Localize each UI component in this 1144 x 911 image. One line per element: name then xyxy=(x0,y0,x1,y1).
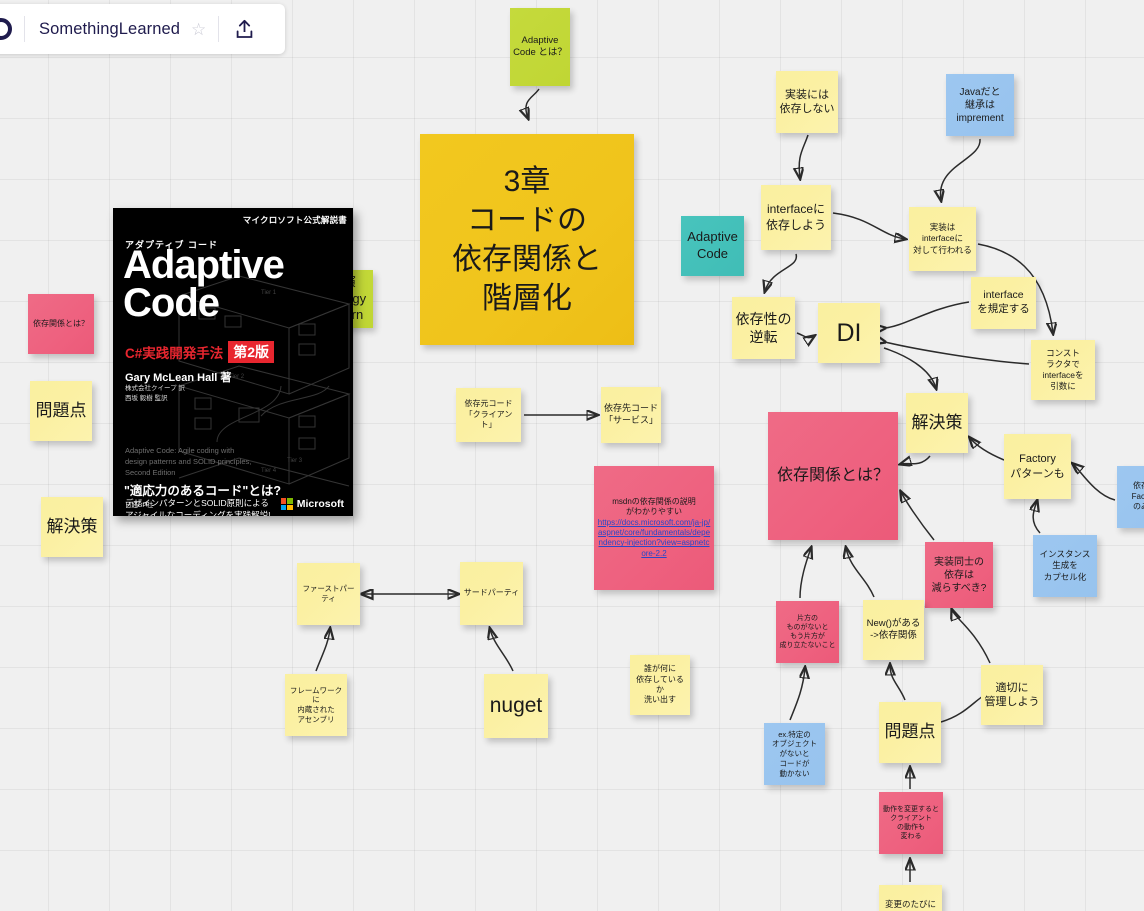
sticky-note-java-keishou[interactable]: Javaだと 継承は imprement xyxy=(946,74,1014,136)
circle-logo-icon[interactable] xyxy=(0,18,12,40)
book-subtitle-row: C#実践開発手法 第2版 xyxy=(125,341,274,363)
sticky-note-adaptive-code-teal[interactable]: Adaptive Code xyxy=(681,216,744,276)
sticky-note-dare-ga-nani-ni[interactable]: 誰が何に 依存しているか 洗い出す xyxy=(630,655,690,715)
svg-text:Tier 4: Tier 4 xyxy=(261,468,277,474)
sticky-note-interface-wo-kitei[interactable]: interface を規定する xyxy=(971,277,1036,329)
sticky-note-factory-pattern-mo[interactable]: Factory パターンも xyxy=(1004,434,1071,499)
microsoft-squares-icon xyxy=(281,498,293,510)
sticky-note-jissou-doushi[interactable]: 実装同士の 依存は 減らすべき? xyxy=(925,542,993,608)
sticky-note-first-party[interactable]: ファーストパーティ xyxy=(297,563,360,625)
sticky-note-mondaiten-right[interactable]: 問題点 xyxy=(879,702,941,763)
sticky-note-ex-tokutei-object[interactable]: ex.特定の オブジェクト がないと コードが 動かない xyxy=(764,723,825,785)
sticky-note-katahou-no-mono[interactable]: 片方の ものがないと もう片方が 成り立たないこと xyxy=(776,601,839,663)
sticky-note-chapter3-main[interactable]: 3章 コードの 依存関係と 階層化 xyxy=(420,134,634,345)
upload-share-icon[interactable] xyxy=(219,19,254,39)
sticky-note-dousa-henkou[interactable]: 動作を変更すると クライアント の動作も 変わる xyxy=(879,792,943,854)
sticky-note-izon-kankei-toha-s[interactable]: 依存関係とは？ xyxy=(28,294,94,354)
book-subtitle: C#実践開発手法 xyxy=(125,342,223,362)
sticky-note-third-party[interactable]: サードパーティ xyxy=(460,562,523,625)
page-title[interactable]: SomethingLearned xyxy=(25,20,191,39)
note-link[interactable]: https://docs.microsoft.com/ja-jp/aspnet/… xyxy=(597,518,711,560)
book-publisher: 日経BP社 xyxy=(125,499,153,509)
note-text: msdnの依存関係の説明 がわかりやすいhttps://docs.microso… xyxy=(597,497,711,559)
sticky-note-mondaiten-left[interactable]: 問題点 xyxy=(30,381,92,441)
sticky-note-adaptive-code-toha[interactable]: Adaptive Code とは？ xyxy=(510,8,570,86)
sticky-note-izon-kankei-toha-big[interactable]: 依存関係とは？ xyxy=(768,412,898,540)
sticky-note-framework-assembly[interactable]: フレームワークに 内蔵された アセンブリ xyxy=(285,674,347,736)
sticky-note-kaiketsusaku-right[interactable]: 解決策 xyxy=(906,393,968,453)
sticky-note-interface-ni-izon[interactable]: interfaceに 依存しよう xyxy=(761,185,831,250)
sticky-note-izonmoto-code[interactable]: 依存元コード 「クライアント」 xyxy=(456,388,521,442)
book-main-title: Adaptive Code xyxy=(123,246,284,323)
sticky-note-jissou-wa-interface[interactable]: 実装は interfaceに 対して行われる xyxy=(909,207,976,271)
book-publisher-label: マイクロソフト公式解説書 xyxy=(243,214,347,226)
sticky-note-izonsuru-factory[interactable]: 依存す… Factory… のみに… xyxy=(1117,466,1144,528)
star-outline-icon[interactable]: ☆ xyxy=(191,21,218,38)
sticky-note-di-note[interactable]: DI xyxy=(818,303,880,363)
book-english-title: Adaptive Code: Agile coding with design … xyxy=(125,446,251,479)
whiteboard-canvas[interactable]: Adaptive Code とは？実装には 依存しないJavaだと 継承は im… xyxy=(0,0,1144,911)
book-cover-image[interactable]: Tier 1 Tier 2 Tier 3 Tier 4 マイクロソフト公式解説書… xyxy=(113,208,353,516)
microsoft-logo: Microsoft xyxy=(281,498,344,510)
sticky-note-msdn-link[interactable]: msdnの依存関係の説明 がわかりやすいhttps://docs.microso… xyxy=(594,466,714,590)
sticky-note-nuget[interactable]: nuget xyxy=(484,674,548,738)
sticky-note-kaiketsusaku-left[interactable]: 解決策 xyxy=(41,497,103,557)
sticky-note-izonsei-no-gyakuten[interactable]: 依存性の 逆転 xyxy=(732,297,795,359)
svg-text:Tier 3: Tier 3 xyxy=(287,458,303,464)
book-translator: 株式会社クイープ 訳 西坂 毅樹 監訳 xyxy=(125,384,185,404)
book-edition-badge: 第2版 xyxy=(228,341,274,363)
microsoft-wordmark: Microsoft xyxy=(297,498,344,510)
document-toolbar: SomethingLearned ☆ xyxy=(0,4,285,54)
sticky-note-izonsaki-code[interactable]: 依存先コード 「サービス」 xyxy=(601,387,661,443)
sticky-note-constructor-intf[interactable]: コンスト ラクタで interfaceを 引数に xyxy=(1031,340,1095,400)
book-author: Gary McLean Hall 著 xyxy=(125,369,231,385)
sticky-note-henkou-no-tabini[interactable]: 変更のたびに xyxy=(879,885,942,911)
sticky-note-new-ga-aru[interactable]: New()がある ->依存関係 xyxy=(863,600,924,660)
sticky-note-jissou-izon-shinai[interactable]: 実装には 依存しない xyxy=(776,71,838,133)
sticky-note-instance-capsule[interactable]: インスタンス 生成を カプセル化 xyxy=(1033,535,1097,597)
sticky-note-tekisetsu-kanri[interactable]: 適切に 管理しよう xyxy=(981,665,1043,725)
